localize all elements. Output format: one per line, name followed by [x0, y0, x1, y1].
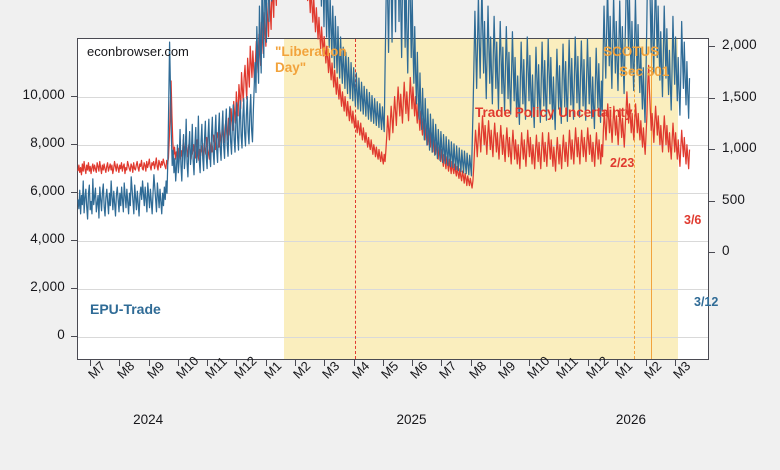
x-axis-tick-label: M8	[466, 358, 489, 381]
annotation-liberation-day: "Liberation Day"	[275, 44, 347, 77]
y-axis-left-tick-label: 8,000	[3, 135, 65, 150]
y-axis-left-tick	[71, 336, 77, 337]
x-axis-year-label: 2026	[616, 412, 646, 427]
x-axis-tick-label: M3	[670, 358, 693, 381]
x-axis-tick-label: M2	[290, 358, 313, 381]
y-axis-left-tick	[71, 96, 77, 97]
y-axis-right-tick	[709, 201, 715, 202]
x-axis-tick-label: M7	[436, 358, 459, 381]
annotation-sec-301: Sec 301	[619, 64, 669, 80]
y-axis-right-tick	[709, 46, 715, 47]
y-axis-right-tick-label: 2,000	[722, 37, 757, 52]
y-axis-right-tick	[709, 149, 715, 150]
annotation-date-223: 2/23	[610, 156, 634, 171]
y-axis-left-tick-label: 2,000	[3, 279, 65, 294]
x-axis-tick-label: M1	[612, 358, 635, 381]
y-axis-right-tick-label: 0	[722, 243, 730, 258]
annotation-date-312: 3/12	[694, 295, 718, 310]
y-axis-right-tick	[709, 98, 715, 99]
x-axis-tick-label: M9	[144, 358, 167, 381]
plot-area: econbrowser.com "Liberation Day" SCOTUS …	[77, 38, 709, 360]
series-label-trade-policy-uncertainty: Trade Policy Uncertainty	[475, 105, 633, 121]
x-axis-year-label: 2024	[133, 412, 163, 427]
x-axis-tick-label: M7	[85, 358, 108, 381]
y-axis-right-tick-label: 500	[722, 192, 745, 207]
series-label-epu-trade: EPU-Trade	[90, 301, 161, 318]
source-watermark: econbrowser.com	[87, 44, 189, 60]
series-lines	[78, 39, 710, 361]
annotation-scotus: SCOTUS	[603, 44, 659, 60]
x-axis-tick-label: M2	[641, 358, 664, 381]
y-axis-left-tick-label: 10,000	[3, 87, 65, 102]
x-axis-year-label: 2025	[396, 412, 426, 427]
x-axis-tick-label: M1	[261, 358, 284, 381]
y-axis-left-tick	[71, 144, 77, 145]
x-axis-tick-label: M5	[378, 358, 401, 381]
x-axis-tick-label: M6	[407, 358, 430, 381]
y-axis-left-tick	[71, 192, 77, 193]
chart-figure: econbrowser.com "Liberation Day" SCOTUS …	[0, 0, 780, 470]
y-axis-left-tick	[71, 240, 77, 241]
y-axis-left-tick	[71, 288, 77, 289]
x-axis-tick-label: M8	[114, 358, 137, 381]
y-axis-left-tick-label: 4,000	[3, 231, 65, 246]
x-axis-tick-label: M3	[319, 358, 342, 381]
y-axis-right-tick-label: 1,000	[722, 140, 757, 155]
y-axis-right-tick	[709, 252, 715, 253]
x-axis-tick-label: M4	[349, 358, 372, 381]
x-axis-tick-label: M9	[495, 358, 518, 381]
annotation-date-36: 3/6	[684, 213, 701, 228]
y-axis-right-tick-label: 1,500	[722, 89, 757, 104]
y-axis-left-tick-label: 6,000	[3, 183, 65, 198]
y-axis-left-tick-label: 0	[3, 327, 65, 342]
